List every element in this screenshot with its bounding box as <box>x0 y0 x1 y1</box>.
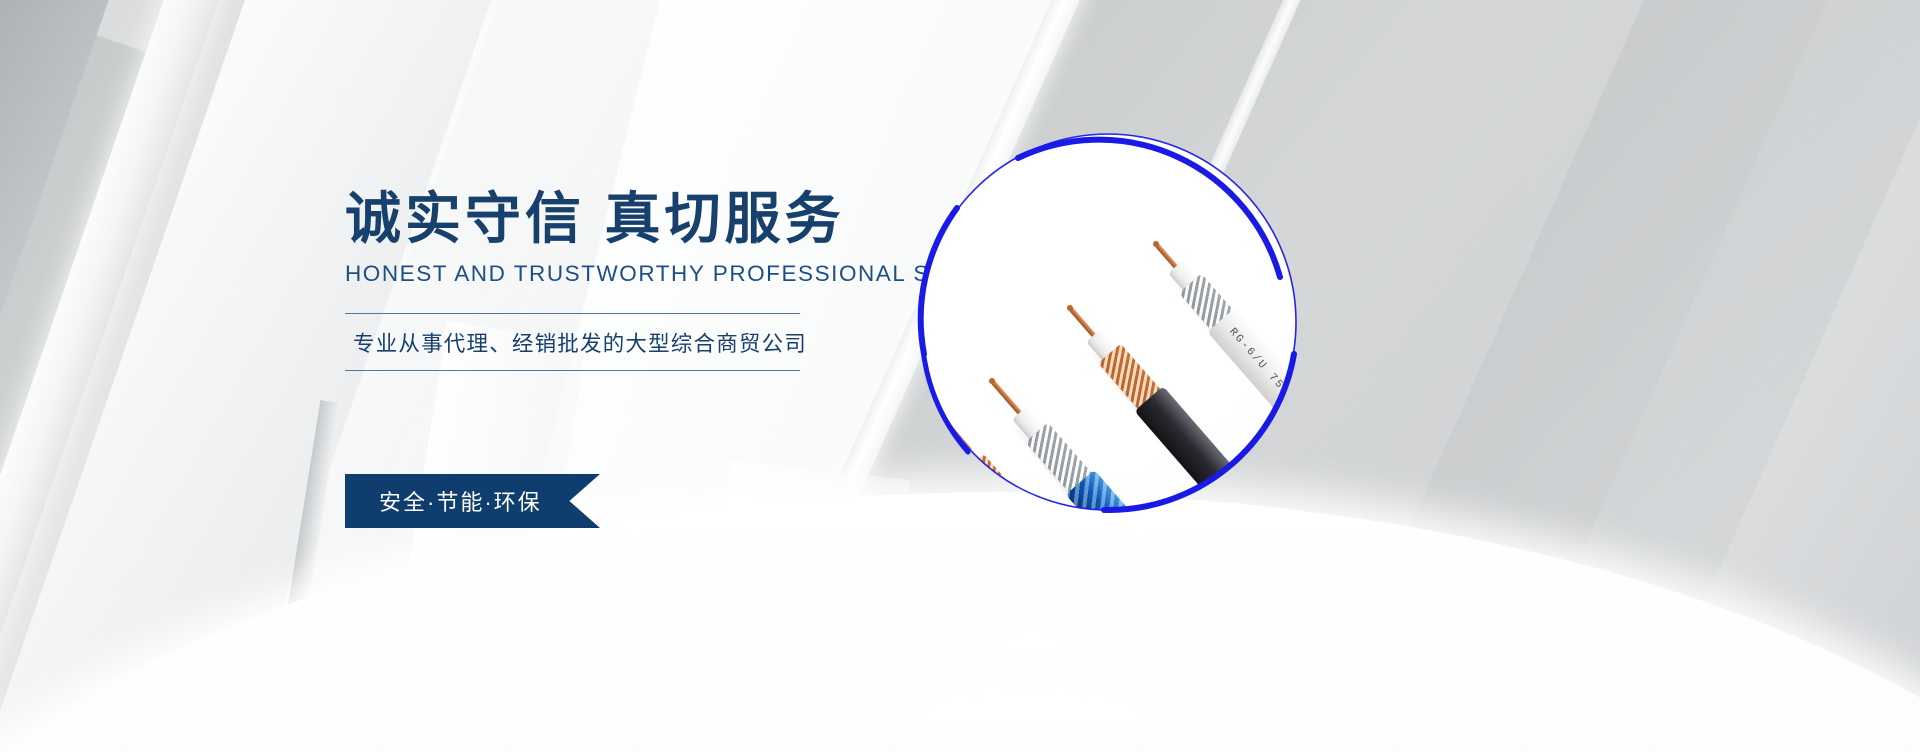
divider-top <box>345 313 800 314</box>
ring-accent-icon <box>908 122 1308 522</box>
background-floor-glow <box>380 502 1680 722</box>
background-floor <box>0 492 1920 752</box>
background-facet-center-pane <box>202 0 957 752</box>
background-facet-far-right <box>1272 0 1920 752</box>
feature-tag-label: 安全·节能·环保 <box>345 485 542 517</box>
feature-tag: 安全·节能·环保 <box>345 474 600 528</box>
subtitle-rule-block: 专业从事代理、经销批发的大型综合商贸公司 <box>345 313 800 371</box>
page-title: 诚实守信 真切服务 <box>345 188 905 251</box>
hero-banner: 诚实守信 真切服务 HONEST AND TRUSTWORTHY PROFESS… <box>0 0 1920 752</box>
background-post-narrow <box>280 400 340 660</box>
subtitle-english: HONEST AND TRUSTWORTHY PROFESSIONAL SERV… <box>345 261 905 287</box>
background-facet-left-pane <box>0 0 527 752</box>
product-medallion: RG-6/U 75Ω <box>908 122 1308 522</box>
background-facet-left-highlight <box>0 0 254 752</box>
background-post-right <box>710 461 910 679</box>
background-facet-left-shadow <box>0 0 143 752</box>
subtitle-chinese: 专业从事代理、经销批发的大型综合商贸公司 <box>345 314 800 370</box>
banner-copy: 诚实守信 真切服务 HONEST AND TRUSTWORTHY PROFESS… <box>345 188 905 371</box>
background-facet-left-dark <box>0 0 160 752</box>
divider-bottom <box>345 370 800 371</box>
